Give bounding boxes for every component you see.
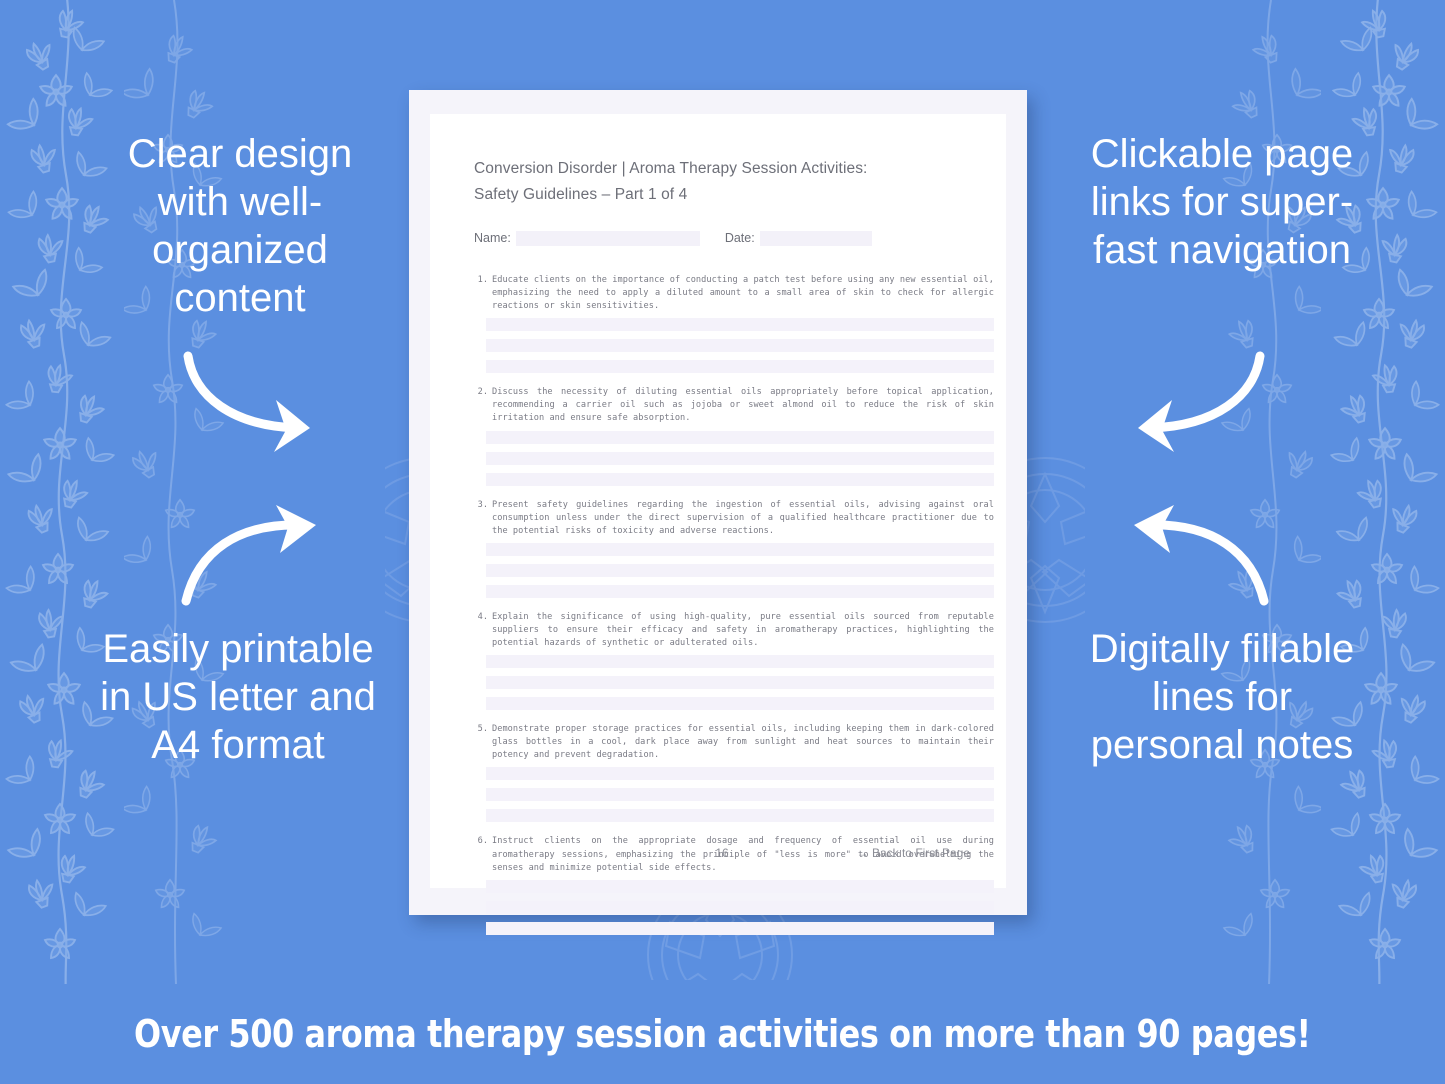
fillable-line[interactable] — [486, 452, 994, 465]
fillable-lines-group — [486, 655, 994, 710]
fillable-line[interactable] — [486, 788, 994, 801]
worksheet-title-line-2: Safety Guidelines – Part 1 of 4 — [474, 182, 994, 208]
fillable-line[interactable] — [486, 585, 994, 598]
curved-arrow-down-left-icon — [1098, 348, 1278, 453]
fillable-line[interactable] — [486, 564, 994, 577]
page-number: 16 — [715, 846, 728, 860]
activity-row: 2.Discuss the necessity of diluting esse… — [474, 386, 994, 425]
curved-arrow-up-left-icon — [1098, 505, 1278, 610]
worksheet-footer: 16 → Back to First Page — [474, 846, 970, 860]
back-to-first-page-link[interactable]: → Back to First Page — [857, 846, 970, 860]
fillable-line[interactable] — [486, 880, 994, 893]
activity-row: 4.Explain the significance of using high… — [474, 611, 994, 650]
date-input[interactable] — [760, 231, 872, 246]
callout-clickable-page-links: Clickable page links for super-fast navi… — [1072, 130, 1372, 274]
fillable-line[interactable] — [486, 543, 994, 556]
bottom-promo-banner: Over 500 aroma therapy session activitie… — [0, 984, 1445, 1084]
activity-number: 1. — [474, 274, 492, 287]
fillable-line[interactable] — [486, 318, 994, 331]
activity-row: 5.Demonstrate proper storage practices f… — [474, 723, 994, 762]
fillable-lines-group — [486, 767, 994, 822]
activity-number: 4. — [474, 611, 492, 624]
activity-item: 2.Discuss the necessity of diluting esse… — [474, 386, 994, 485]
activity-text: Explain the significance of using high-q… — [492, 611, 994, 650]
activity-text: Educate clients on the importance of con… — [492, 274, 994, 313]
callout-digitally-fillable-lines: Digitally fillable lines for personal no… — [1072, 625, 1372, 769]
fillable-line[interactable] — [486, 655, 994, 668]
activity-item: 1.Educate clients on the importance of c… — [474, 274, 994, 373]
activity-number: 5. — [474, 723, 492, 736]
activities-list: 1.Educate clients on the importance of c… — [474, 274, 994, 935]
fillable-line[interactable] — [486, 767, 994, 780]
curved-arrow-down-right-icon — [170, 348, 350, 453]
fillable-line[interactable] — [486, 431, 994, 444]
activity-text: Present safety guidelines regarding the … — [492, 499, 994, 538]
callout-easily-printable: Easily printable in US letter and A4 for… — [88, 625, 388, 769]
fillable-line[interactable] — [486, 809, 994, 822]
bottom-promo-banner-text: Over 500 aroma therapy session activitie… — [134, 1012, 1311, 1056]
worksheet-title-line-1: Conversion Disorder | Aroma Therapy Sess… — [474, 156, 994, 182]
name-input[interactable] — [516, 231, 700, 246]
fillable-line[interactable] — [486, 676, 994, 689]
fillable-line[interactable] — [486, 473, 994, 486]
name-label: Name: — [474, 231, 511, 245]
callout-clear-design: Clear design with well-organized content — [90, 130, 390, 322]
fillable-line[interactable] — [486, 901, 994, 914]
worksheet-document-frame: Conversion Disorder | Aroma Therapy Sess… — [409, 90, 1027, 915]
activity-item: 3.Present safety guidelines regarding th… — [474, 499, 994, 598]
activity-text: Demonstrate proper storage practices for… — [492, 723, 994, 762]
curved-arrow-up-right-icon — [172, 505, 352, 610]
fillable-line[interactable] — [486, 697, 994, 710]
fillable-lines-group — [486, 431, 994, 486]
activity-item: 4.Explain the significance of using high… — [474, 611, 994, 710]
name-date-row: Name: Date: — [474, 230, 994, 246]
activity-item: 5.Demonstrate proper storage practices f… — [474, 723, 994, 822]
date-label: Date: — [725, 231, 755, 245]
fillable-line[interactable] — [486, 360, 994, 373]
fillable-lines-group — [486, 318, 994, 373]
fillable-line[interactable] — [486, 922, 994, 935]
fillable-lines-group — [486, 880, 994, 935]
activity-text: Discuss the necessity of diluting essent… — [492, 386, 994, 425]
worksheet-content: Conversion Disorder | Aroma Therapy Sess… — [474, 156, 994, 948]
fillable-lines-group — [486, 543, 994, 598]
activity-row: 3.Present safety guidelines regarding th… — [474, 499, 994, 538]
activity-row: 1.Educate clients on the importance of c… — [474, 274, 994, 313]
activity-number: 2. — [474, 386, 492, 399]
worksheet-page: Conversion Disorder | Aroma Therapy Sess… — [430, 114, 1006, 888]
fillable-line[interactable] — [486, 339, 994, 352]
activity-number: 3. — [474, 499, 492, 512]
